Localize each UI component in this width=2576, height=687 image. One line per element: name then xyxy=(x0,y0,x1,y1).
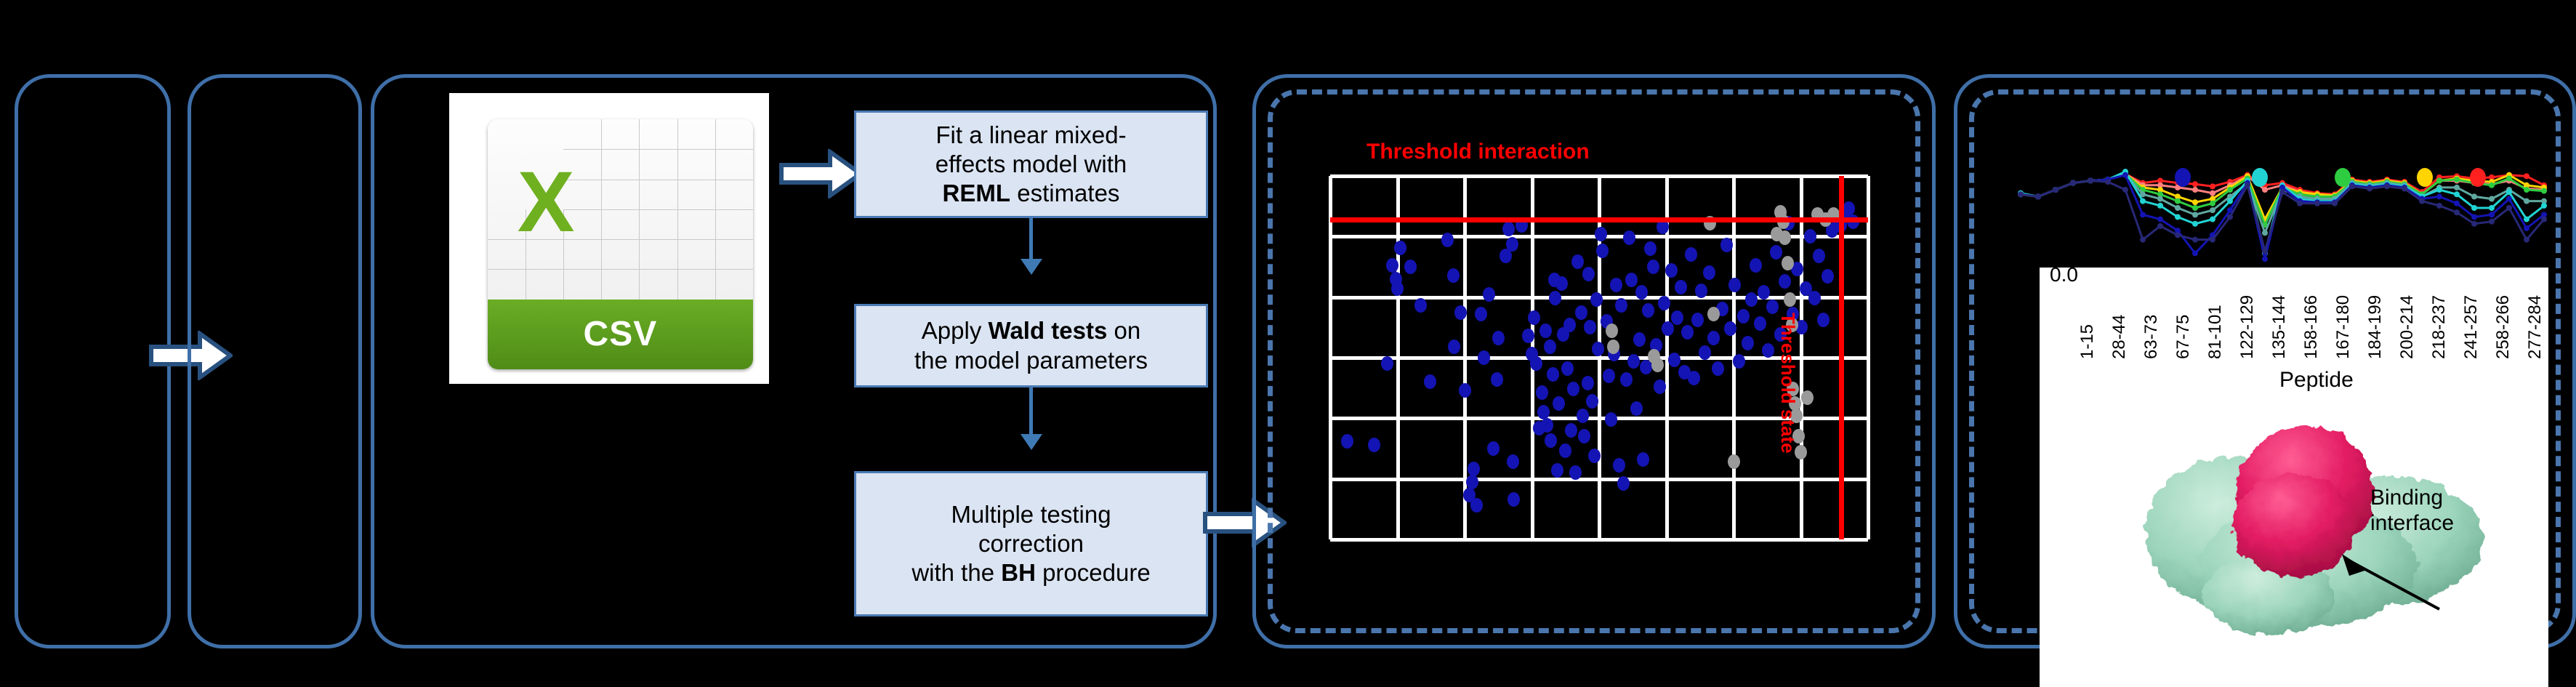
scatter-point xyxy=(1567,382,1579,396)
scatter-point xyxy=(1537,405,1550,419)
scatter-point xyxy=(1782,256,1794,270)
peptide-series-marker xyxy=(2367,185,2372,191)
peptide-series-marker xyxy=(2157,223,2163,229)
peptide-series-marker xyxy=(2018,191,2024,197)
peptide-series-marker xyxy=(2454,191,2460,197)
scatter-point xyxy=(1707,307,1720,321)
scatter-point xyxy=(1441,233,1454,247)
peptide-tick-labels: 1-1528-4463-7367-7581-101122-129135-1441… xyxy=(2040,268,2548,369)
scatter-point xyxy=(1707,331,1720,345)
scatter-point xyxy=(1742,336,1754,350)
legend-dot-cyan xyxy=(2252,168,2268,187)
peptide-series-marker xyxy=(2524,173,2529,179)
peptide-series-marker xyxy=(2140,237,2146,243)
scatter-point xyxy=(1468,462,1480,476)
peptide-series-marker xyxy=(2227,187,2233,193)
binding-interface-line2: interface xyxy=(2370,511,2454,537)
scatter-point xyxy=(1565,423,1577,438)
peptide-series-marker xyxy=(2524,187,2529,193)
peptide-tick-label: 158-166 xyxy=(2301,295,2322,359)
peptide-series-marker xyxy=(2035,193,2041,199)
scatter-point xyxy=(1750,258,1762,273)
scatter-point xyxy=(1506,237,1518,252)
scatter-point xyxy=(1595,227,1607,241)
scatter-point xyxy=(1651,358,1664,372)
scatter-point xyxy=(1766,300,1779,314)
peptide-series-marker xyxy=(2245,182,2250,188)
scatter-point xyxy=(1530,356,1542,371)
scatter-point xyxy=(1610,278,1622,292)
peptide-series-marker xyxy=(2349,183,2355,189)
peptide-tick-label: 167-180 xyxy=(2333,295,2354,359)
scatter-point xyxy=(1424,374,1436,389)
process-box-wald-tests[interactable]: Apply Wald tests onthe model parameters xyxy=(854,304,1208,387)
peptide-series-marker xyxy=(2175,198,2181,204)
scatter-point xyxy=(1642,303,1654,318)
peptide-series-marker xyxy=(2506,196,2512,202)
scatter-point xyxy=(1483,287,1495,302)
scatter-point xyxy=(1688,371,1700,385)
scatter-point xyxy=(1630,401,1643,416)
peptide-tick-label: 1-15 xyxy=(2077,324,2098,359)
threshold-interaction-label: Threshold interaction xyxy=(1367,140,1590,164)
peptide-tick-label: 135-144 xyxy=(2269,295,2290,359)
scatter-point xyxy=(1754,316,1766,331)
peptide-series-marker xyxy=(2227,214,2233,220)
scatter-point xyxy=(1695,284,1707,298)
peptide-series-marker xyxy=(2192,181,2198,187)
scatter-point xyxy=(1575,305,1587,320)
scatter-point xyxy=(1662,321,1674,336)
scatter-point xyxy=(1447,268,1460,283)
peptide-series-marker xyxy=(2524,225,2529,231)
peptide-series-marker xyxy=(2489,212,2495,217)
scatter-point xyxy=(1762,343,1774,358)
scatter-point xyxy=(1555,276,1568,291)
scatter-point xyxy=(1475,307,1487,321)
scatter-point xyxy=(1675,280,1687,294)
scatter-point xyxy=(1779,230,1791,245)
scatter-point xyxy=(1577,409,1589,423)
peptide-tick-label: 28-44 xyxy=(2109,315,2130,359)
scatter-point xyxy=(1547,367,1559,382)
peptide-series-marker xyxy=(2210,217,2215,222)
peptide-series-marker xyxy=(2175,232,2181,238)
legend-dot-navy xyxy=(2175,168,2191,187)
scatter-point xyxy=(1647,260,1659,274)
scatter-point xyxy=(1671,310,1683,325)
scatter-point xyxy=(1491,372,1503,387)
peptide-series-marker xyxy=(2297,201,2303,206)
scatter-point xyxy=(1539,324,1552,338)
gridline-horizontal xyxy=(1330,538,1868,542)
scatter-point xyxy=(1563,318,1576,332)
peptide-series-marker xyxy=(2489,205,2495,211)
process-box-line: effects model with xyxy=(935,150,1127,179)
scatter-point xyxy=(1470,498,1483,513)
scatter-chart: Threshold interaction Threshold state xyxy=(1308,131,1890,574)
scatter-point xyxy=(1544,340,1556,354)
scatter-point xyxy=(1728,454,1740,469)
peptide-series-marker xyxy=(2192,212,2198,217)
peptide-series-marker xyxy=(2436,203,2442,209)
scatter-point xyxy=(1541,418,1553,433)
peptide-series-marker xyxy=(2210,190,2215,196)
scatter-point xyxy=(1617,476,1630,491)
peptide-series-marker xyxy=(2227,198,2233,204)
scatter-point xyxy=(1654,379,1666,394)
peptide-series-marker xyxy=(2262,187,2268,193)
scatter-point xyxy=(1536,385,1548,400)
process-box-line: with the BH procedure xyxy=(911,558,1150,587)
peptide-series-marker xyxy=(2262,230,2268,236)
peptide-line-chart xyxy=(2006,145,2559,269)
peptide-series-marker xyxy=(2175,214,2181,220)
scatter-point xyxy=(1492,331,1505,345)
scatter-point xyxy=(1703,265,1715,280)
peptide-figure-panel: 0.0 1-1528-4463-7367-7581-101122-129135-… xyxy=(2040,268,2548,687)
peptide-series-marker xyxy=(2402,185,2407,191)
peptide-series-marker xyxy=(2053,187,2058,193)
scatter-point xyxy=(1502,222,1515,236)
peptide-series-marker xyxy=(2489,182,2495,188)
x-axis-label: Peptide xyxy=(2279,368,2354,393)
legend-dot-red xyxy=(2470,168,2486,187)
scatter-point xyxy=(1590,292,1603,307)
peptide-tick-label: 241-257 xyxy=(2461,295,2482,359)
threshold-line-horizontal xyxy=(1330,217,1868,222)
peptide-tick-label: 81-101 xyxy=(2205,305,2226,359)
scatter-point xyxy=(1528,310,1540,325)
process-box-line: Fit a linear mixed- xyxy=(935,121,1127,150)
peptide-series-marker xyxy=(2210,237,2215,243)
diagram-canvas: X CSV Fit a linear mixed-effects model w… xyxy=(0,0,2576,687)
scatter-point xyxy=(1623,230,1635,245)
peptide-series-marker xyxy=(2471,221,2477,227)
peptide-series-marker xyxy=(2436,178,2442,184)
scatter-point xyxy=(1784,292,1796,307)
scatter-point xyxy=(1779,274,1791,289)
peptide-series-marker xyxy=(2454,177,2460,182)
peptide-series-marker xyxy=(2524,237,2529,243)
peptide-tick-label: 67-75 xyxy=(2173,315,2194,359)
scatter-point xyxy=(1627,354,1640,369)
connector-wald-to-bh xyxy=(1029,387,1033,437)
scatter-point xyxy=(1582,376,1594,390)
peptide-series-marker xyxy=(2122,172,2128,178)
peptide-series-marker xyxy=(2454,209,2460,215)
scatter-point xyxy=(1448,340,1460,354)
peptide-tick-label: 218-237 xyxy=(2429,295,2450,359)
scatter-point xyxy=(1466,475,1478,489)
peptide-series-marker xyxy=(2419,198,2425,204)
scatter-point xyxy=(1817,313,1830,327)
scatter-point xyxy=(1553,396,1565,411)
scatter-point xyxy=(1724,321,1736,336)
scatter-point xyxy=(1478,350,1490,365)
process-box-line: Multiple testing xyxy=(911,500,1150,529)
scatter-point xyxy=(1404,260,1417,274)
scatter-point xyxy=(1569,465,1582,480)
peptide-series-marker xyxy=(2192,199,2198,205)
scatter-point xyxy=(1571,254,1584,269)
panel-data xyxy=(188,74,362,648)
process-box-line: Apply Wald tests on xyxy=(914,316,1148,345)
peptide-series-marker xyxy=(2454,185,2460,190)
scatter-point xyxy=(1605,412,1617,427)
peptide-series-marker xyxy=(2210,201,2215,206)
peptide-series-marker xyxy=(2506,175,2512,181)
scatter-point xyxy=(1691,313,1704,327)
scatter-point xyxy=(1681,325,1694,340)
scatter-point xyxy=(1635,285,1648,300)
peptide-series-marker xyxy=(2140,198,2146,204)
peptide-series-marker xyxy=(2157,203,2163,209)
scatter-point xyxy=(1658,296,1670,310)
peptide-series-marker xyxy=(2192,250,2198,256)
peptide-series-marker xyxy=(2524,217,2529,222)
peptide-series-marker xyxy=(2210,207,2215,213)
scatter-point xyxy=(1578,429,1590,443)
scatter-point xyxy=(1454,305,1467,320)
peptide-series-marker xyxy=(2332,201,2338,206)
peptide-series-marker xyxy=(2262,248,2268,254)
scatter-point xyxy=(1685,247,1697,262)
binding-interface-label: Binding interface xyxy=(2370,486,2454,536)
peptide-series-marker xyxy=(2140,212,2146,217)
panel-input xyxy=(15,74,171,648)
scatter-point xyxy=(1391,281,1404,296)
peptide-series-marker xyxy=(2105,179,2111,185)
peptide-series-marker xyxy=(2489,219,2495,225)
peptide-tick-label: 277-284 xyxy=(2525,295,2545,359)
scatter-point xyxy=(1341,434,1353,449)
scatter-point xyxy=(1606,324,1618,338)
peptide-series-marker xyxy=(2489,196,2495,202)
peptide-series-marker xyxy=(2436,187,2442,193)
peptide-series-marker xyxy=(2471,193,2477,199)
scatter-point xyxy=(1737,309,1750,324)
connector-fit-to-wald xyxy=(1029,218,1033,262)
scatter-point xyxy=(1549,291,1561,305)
scatter-point xyxy=(1459,383,1471,398)
threshold-state-label: Threshold state xyxy=(1776,313,1799,454)
scatter-point xyxy=(1381,356,1393,371)
peptide-series-marker xyxy=(2192,187,2198,193)
peptide-series-marker xyxy=(2157,217,2163,222)
scatter-point xyxy=(1712,361,1724,376)
scatter-point xyxy=(1745,292,1758,307)
scatter-point xyxy=(1720,238,1733,252)
scatter-point xyxy=(1559,443,1571,458)
scatter-point xyxy=(1592,342,1604,356)
scatter-point xyxy=(1603,369,1615,383)
scatter-point xyxy=(1588,449,1601,463)
peptide-series-marker xyxy=(2122,187,2128,193)
scatter-point xyxy=(1733,354,1745,369)
peptide-tick-label: 200-214 xyxy=(2397,295,2418,359)
peptide-tick-label: 63-73 xyxy=(2141,315,2162,359)
scatter-point xyxy=(1561,361,1574,376)
scatter-point xyxy=(1487,441,1500,456)
scatter-point xyxy=(1386,258,1398,273)
scatter-point xyxy=(1637,452,1649,467)
legend-dot-yellow xyxy=(2417,168,2433,187)
scatter-point xyxy=(1545,433,1557,448)
scatter-point xyxy=(1596,244,1609,258)
scatter-point xyxy=(1801,390,1814,405)
peptide-series-marker xyxy=(2157,196,2163,202)
peptide-series-marker xyxy=(2070,180,2076,186)
peptide-series-marker xyxy=(2524,198,2529,204)
scatter-point xyxy=(1808,291,1821,305)
scatter-point xyxy=(1551,463,1563,478)
process-box-line: REML estimates xyxy=(935,179,1127,208)
gridline-horizontal xyxy=(1330,174,1868,178)
process-box-multiple-testing[interactable]: Multiple testingcorrectionwith the BH pr… xyxy=(854,471,1208,616)
scatter-point xyxy=(1665,263,1678,278)
peptide-series-marker xyxy=(2175,205,2181,211)
peptide-series-marker xyxy=(2471,205,2477,211)
peptide-series-marker xyxy=(2210,183,2215,189)
peptide-series-marker xyxy=(2506,189,2512,195)
scatter-point xyxy=(1813,249,1825,263)
peptide-series-marker xyxy=(2192,237,2198,243)
peptide-series-marker xyxy=(2262,256,2268,262)
scatter-point xyxy=(1728,278,1741,292)
peptide-tick-label: 258-266 xyxy=(2493,295,2513,359)
peptide-series-marker xyxy=(2506,205,2512,211)
scatter-point xyxy=(1582,267,1595,281)
peptide-series-marker xyxy=(2192,221,2198,227)
gridline-horizontal xyxy=(1330,478,1868,481)
peptide-series-marker xyxy=(2314,201,2320,206)
legend-dot-green xyxy=(2335,168,2351,187)
scatter-point xyxy=(1584,320,1596,334)
peptide-tick-label: 122-129 xyxy=(2237,295,2258,359)
scatter-point xyxy=(1804,229,1816,244)
scatter-point xyxy=(1633,332,1646,347)
binding-interface-line1: Binding xyxy=(2370,486,2454,511)
peptide-tick-label: 184-199 xyxy=(2365,295,2386,359)
scatter-point xyxy=(1668,353,1681,367)
peptide-series-marker xyxy=(2541,188,2547,194)
scatter-point xyxy=(1699,345,1711,360)
peptide-series-marker xyxy=(2279,189,2285,195)
connector-arrowhead-2 xyxy=(1021,434,1042,450)
scatter-point xyxy=(1414,298,1427,313)
scatter-point xyxy=(1508,492,1520,507)
scatter-point xyxy=(1522,329,1534,343)
scatter-point xyxy=(1394,241,1406,255)
process-box-line: the model parameters xyxy=(914,346,1148,375)
scatter-point xyxy=(1770,245,1782,260)
peptide-series-marker xyxy=(2541,203,2547,209)
scatter-point xyxy=(1620,372,1633,387)
peptide-series-marker xyxy=(2436,193,2442,199)
connector-arrowhead-1 xyxy=(1021,259,1042,275)
peptide-series-marker xyxy=(2454,201,2460,206)
peptide-chart-svg xyxy=(2006,145,2559,269)
peptide-series-marker xyxy=(2541,217,2547,222)
peptide-series-marker xyxy=(2471,214,2477,220)
scatter-point xyxy=(1615,298,1627,313)
scatter-point xyxy=(1625,273,1638,287)
peptide-series-marker xyxy=(2384,183,2390,189)
scatter-point xyxy=(1368,438,1380,452)
scatter-point xyxy=(1507,454,1519,469)
scatter-point xyxy=(1822,269,1834,284)
threshold-line-vertical xyxy=(1839,176,1844,539)
peptide-series-marker xyxy=(2088,178,2093,184)
scatter-point xyxy=(1613,458,1625,473)
peptide-series-marker xyxy=(2192,205,2198,211)
process-box-line: correction xyxy=(911,529,1150,558)
scatter-point xyxy=(1644,241,1657,256)
scatter-point xyxy=(1586,394,1598,409)
process-box-fit-model[interactable]: Fit a linear mixed-effects model withREM… xyxy=(854,111,1208,218)
